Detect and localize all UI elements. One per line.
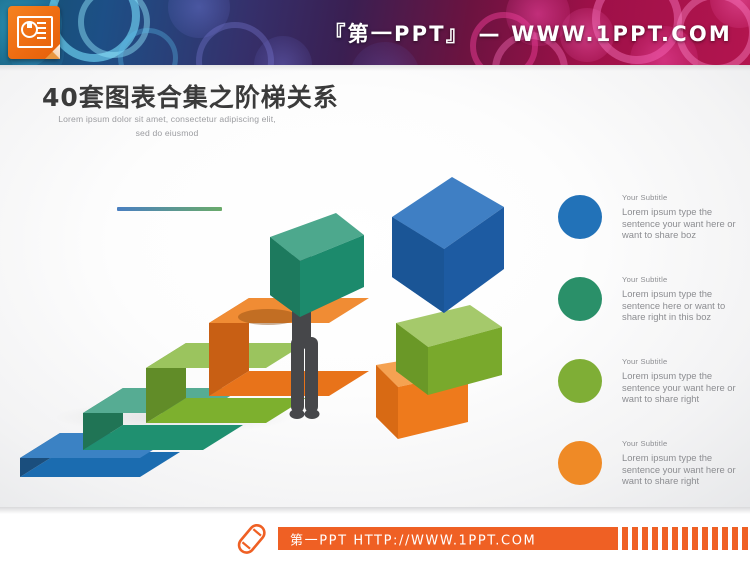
powerpoint-logo-icon xyxy=(8,6,60,59)
cube-blue xyxy=(392,177,504,313)
list-item[interactable]: Your Subtitle Lorem ipsum type the sente… xyxy=(556,439,746,507)
bullet-dot-1[interactable] xyxy=(558,195,602,239)
top-banner: 『第一PPT』 — WWW.1PPT.COM xyxy=(0,0,750,65)
cube-green xyxy=(396,305,502,395)
bokeh-circle xyxy=(118,28,178,65)
item-body: Lorem ipsum type the sentence your want … xyxy=(622,370,740,405)
list-item[interactable]: Your Subtitle Lorem ipsum type the sente… xyxy=(556,193,746,275)
bokeh-circle xyxy=(48,0,140,62)
slide-page: 『第一PPT』 — WWW.1PPT.COM 40套图表合集之阶梯关系 Lore… xyxy=(0,0,750,563)
item-body: Lorem ipsum type the sentence your want … xyxy=(622,452,740,487)
list-item[interactable]: Your Subtitle Lorem ipsum type the sente… xyxy=(556,275,746,357)
bokeh-circle xyxy=(254,36,312,65)
slide-canvas: 40套图表合集之阶梯关系 Lorem ipsum dolor sit amet,… xyxy=(0,65,750,507)
footer-bar: 第一PPT HTTP://WWW.1PPT.COM xyxy=(0,507,750,563)
pen-icon xyxy=(232,521,270,557)
bullet-dot-2[interactable] xyxy=(558,277,602,321)
bokeh-circle xyxy=(78,0,150,58)
bullet-dot-3[interactable] xyxy=(558,359,602,403)
figure-foot-left xyxy=(290,409,305,419)
footer-url-bar: 第一PPT HTTP://WWW.1PPT.COM xyxy=(278,527,618,550)
item-subtitle: Your Subtitle xyxy=(622,275,740,284)
item-body: Lorem ipsum type the sentence here or wa… xyxy=(622,288,740,323)
footer-tick-pattern xyxy=(622,527,750,550)
footer-url-text: 第一PPT HTTP://WWW.1PPT.COM xyxy=(290,529,536,548)
list-item[interactable]: Your Subtitle Lorem ipsum type the sente… xyxy=(556,357,746,439)
topbar-title: 『第一PPT』 — WWW.1PPT.COM xyxy=(324,18,732,48)
item-subtitle: Your Subtitle xyxy=(622,357,740,366)
bokeh-circle xyxy=(168,0,230,38)
bokeh-circle xyxy=(196,22,274,65)
item-subtitle: Your Subtitle xyxy=(622,193,740,202)
item-subtitle: Your Subtitle xyxy=(622,439,740,448)
stairs-illustration xyxy=(0,65,560,507)
bullet-list: Your Subtitle Lorem ipsum type the sente… xyxy=(556,193,746,507)
item-body: Lorem ipsum type the sentence your want … xyxy=(622,206,740,241)
figure-foot-right xyxy=(305,409,320,419)
figure-leg-right xyxy=(305,337,318,413)
figure-shadow xyxy=(238,309,298,325)
bullet-dot-4[interactable] xyxy=(558,441,602,485)
figure-leg-left xyxy=(291,337,304,413)
